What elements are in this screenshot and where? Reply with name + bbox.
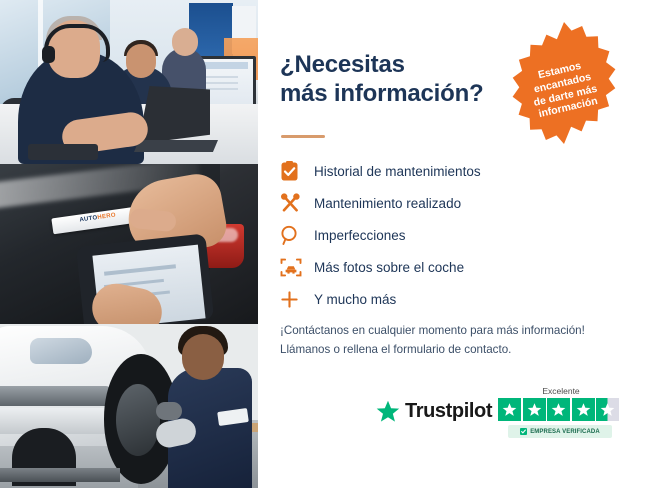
page-title: ¿Necesitas más información? xyxy=(280,50,530,109)
content-panel: ¿Necesitas más información? Estamos enca… xyxy=(258,0,650,488)
heading-line-2: más información? xyxy=(280,79,530,108)
list-item: Y mucho más xyxy=(280,283,580,315)
plus-icon xyxy=(280,290,314,309)
heading-divider xyxy=(281,135,325,138)
heading-line-1: ¿Necesitas xyxy=(280,50,530,79)
list-item-label: Más fotos sobre el coche xyxy=(314,260,464,275)
star-rating xyxy=(498,398,624,421)
trustpilot-logo: Trustpilot xyxy=(376,400,492,423)
list-item: Imperfecciones xyxy=(280,219,580,251)
car-focus-icon xyxy=(280,257,314,278)
list-item: Más fotos sobre el coche xyxy=(280,251,580,283)
trustpilot-wordmark: Trustpilot xyxy=(405,400,492,423)
star-filled xyxy=(498,398,521,421)
list-item: Historial de mantenimientos xyxy=(280,155,580,187)
list-item: Mantenimiento realizado xyxy=(280,187,580,219)
star-filled xyxy=(572,398,595,421)
list-item-label: Historial de mantenimientos xyxy=(314,164,481,179)
verified-label: EMPRESA VERIFICADA xyxy=(530,429,600,435)
trustpilot-star-icon xyxy=(376,400,400,423)
list-item-label: Y mucho más xyxy=(314,292,396,307)
ruler-brand-prefix: AUTO xyxy=(79,215,98,223)
trustpilot-rating: Trustpilot Excelente xyxy=(376,386,626,456)
ruler-brand-suffix: HERO xyxy=(97,213,116,222)
status-badge: EMPRESA VERIFICADA xyxy=(508,425,612,438)
tools-cross-icon xyxy=(280,193,314,214)
feature-list: Historial de mantenimientos Mantenimient… xyxy=(280,155,580,315)
list-item-label: Mantenimiento realizado xyxy=(314,196,461,211)
contact-text: ¡Contáctanos en cualquier momento para m… xyxy=(280,322,640,360)
clipboard-check-icon xyxy=(280,161,314,182)
photo-column: AUTOHERO xyxy=(0,0,258,488)
call-center-agents-photo xyxy=(0,0,258,164)
magnifier-icon xyxy=(280,225,314,246)
support-badge: Estamos encantados de darte más informac… xyxy=(501,20,627,146)
rating-label: Excelente xyxy=(498,386,624,396)
autohero-ruler-inspection-photo: AUTOHERO xyxy=(0,164,258,324)
headset-icon xyxy=(501,20,527,42)
star-filled xyxy=(547,398,570,421)
info-banner: AUTOHERO xyxy=(0,0,650,488)
star-filled xyxy=(523,398,546,421)
contact-line-2: Llámanos o rellena el formulario de cont… xyxy=(280,341,640,360)
star-half xyxy=(596,398,619,421)
check-icon xyxy=(520,428,527,435)
contact-line-1: ¡Contáctanos en cualquier momento para m… xyxy=(280,322,640,341)
trustpilot-score-block: Excelente xyxy=(498,386,624,438)
list-item-label: Imperfecciones xyxy=(314,228,406,243)
mechanic-wheel-inspection-photo xyxy=(0,324,258,488)
